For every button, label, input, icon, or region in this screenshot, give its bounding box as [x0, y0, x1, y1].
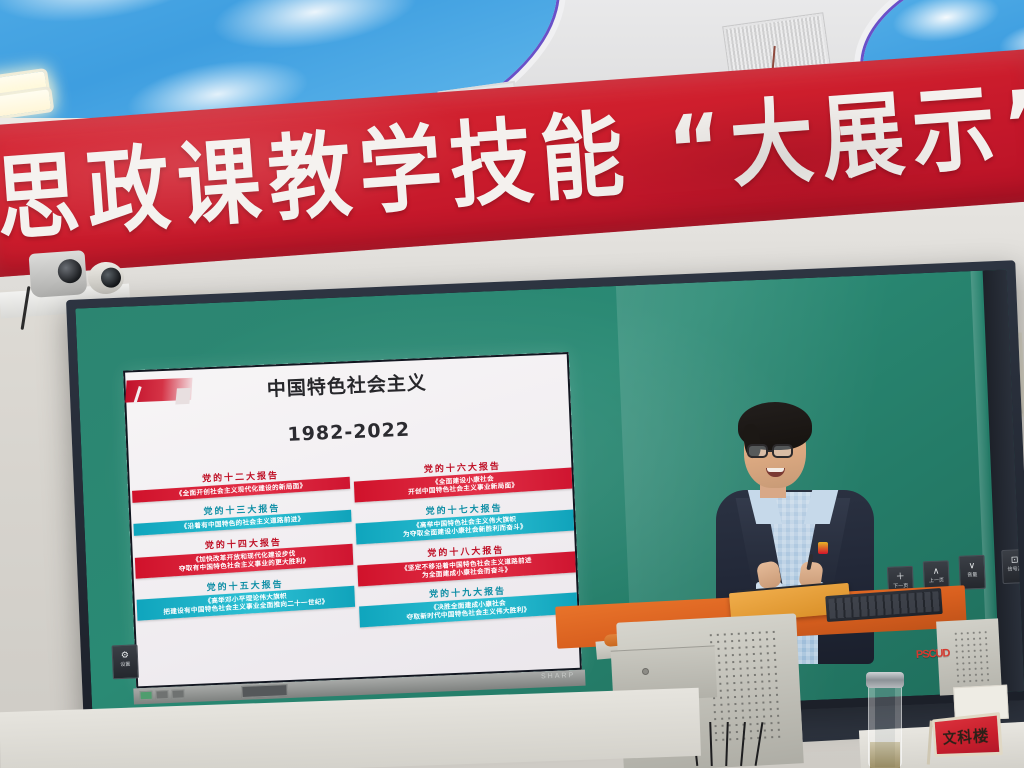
- slide-title: 中国特色社会主义: [123, 362, 570, 408]
- board-brand-label: SHARP: [541, 672, 575, 680]
- board-side-key-source[interactable]: ⊡ 信号源: [1001, 549, 1024, 584]
- glasses-bridge-icon: [768, 450, 772, 452]
- list-item: 党的十八大报告 《坚定不移沿着中国特色社会主义道路前进 为全面建成小康社会而奋斗…: [357, 540, 576, 584]
- glasses-lens-right-icon: [772, 444, 793, 458]
- nameplate-text: 文科楼: [932, 712, 1003, 757]
- presenter-hair: [738, 402, 812, 450]
- tea-bottle-cap: [866, 672, 904, 688]
- list-item: 党的十七大报告 《高举中国特色社会主义伟大旗帜 为夺取全面建设小康社会新胜利而奋…: [355, 498, 574, 542]
- slide-columns: 党的十二大报告 《全面开创社会主义现代化建设的新局面》 党的十三大报告 《沿着有…: [127, 456, 581, 684]
- desk-nameplate: 文科楼: [926, 709, 1005, 764]
- chevron-up-icon: ∧: [924, 565, 948, 577]
- input-button[interactable]: [155, 690, 168, 700]
- party-badge-pin: [818, 542, 828, 554]
- list-item: 党的十四大报告 《加快改革开放和现代化建设步伐 夺取有中国特色社会主义事业的更大…: [134, 532, 353, 576]
- board-strip-buttons[interactable]: [139, 689, 184, 700]
- board-side-key-label: 设置: [120, 662, 130, 668]
- chevron-down-icon: ∨: [960, 560, 984, 572]
- plus-icon: ＋: [888, 571, 912, 583]
- podium-cables: [690, 722, 780, 768]
- podium-side-speaker-grill: [953, 629, 990, 685]
- slide-column-right: 党的十六大报告 《全面建设小康社会 开创中国特色社会主义事业新局面》 党的十七大…: [353, 456, 578, 632]
- source-icon: ⊡: [1003, 554, 1024, 566]
- board-side-key-label: 上一页: [929, 577, 944, 584]
- presenter-hand-left: [756, 560, 782, 589]
- classroom-scene: 思政课教学技能 “大展示” 中国特色社会主义 1982-2022: [0, 0, 1024, 768]
- board-side-key-label: 音量: [967, 572, 977, 578]
- power-button[interactable]: [139, 691, 152, 701]
- glasses-lens-left-icon: [747, 444, 768, 458]
- podium-brand-label: PSCUD: [916, 647, 957, 663]
- menu-button[interactable]: [171, 689, 184, 699]
- board-side-key-label: 信号源: [1007, 566, 1022, 573]
- slide-year-range: 1982-2022: [126, 412, 573, 453]
- slide-column-left: 党的十二大报告 《全面开创社会主义现代化建设的新局面》 党的十三大报告 《沿着有…: [131, 465, 355, 624]
- list-item: 党的十三大报告 《沿着有中国特色的社会主义道路前进》: [133, 499, 352, 535]
- tea-leaves: [870, 742, 900, 768]
- list-item: 党的十九大报告 《决胜全面建成小康社会 夺取新时代中国特色社会主义伟大胜利》: [358, 581, 577, 625]
- main-camera-icon: [29, 250, 88, 298]
- gear-icon: ⚙: [113, 649, 137, 661]
- board-side-key-settings[interactable]: ⚙ 设置: [112, 644, 139, 679]
- podium-drawer-lock[interactable]: [642, 668, 649, 675]
- projection-screen[interactable]: 中国特色社会主义 1982-2022 党的十二大报告 《全面开创社会主义现代化建…: [123, 352, 582, 688]
- list-item: 党的十五大报告 《高举邓小平理论伟大旗帜 把建设有中国特色社会主义事业全面推向二…: [136, 574, 355, 618]
- usb-port[interactable]: [241, 684, 287, 698]
- list-item: 党的十六大报告 《全面建设小康社会 开创中国特色社会主义事业新局面》: [353, 456, 572, 500]
- list-item: 党的十二大报告 《全面开创社会主义现代化建设的新局面》: [131, 465, 350, 501]
